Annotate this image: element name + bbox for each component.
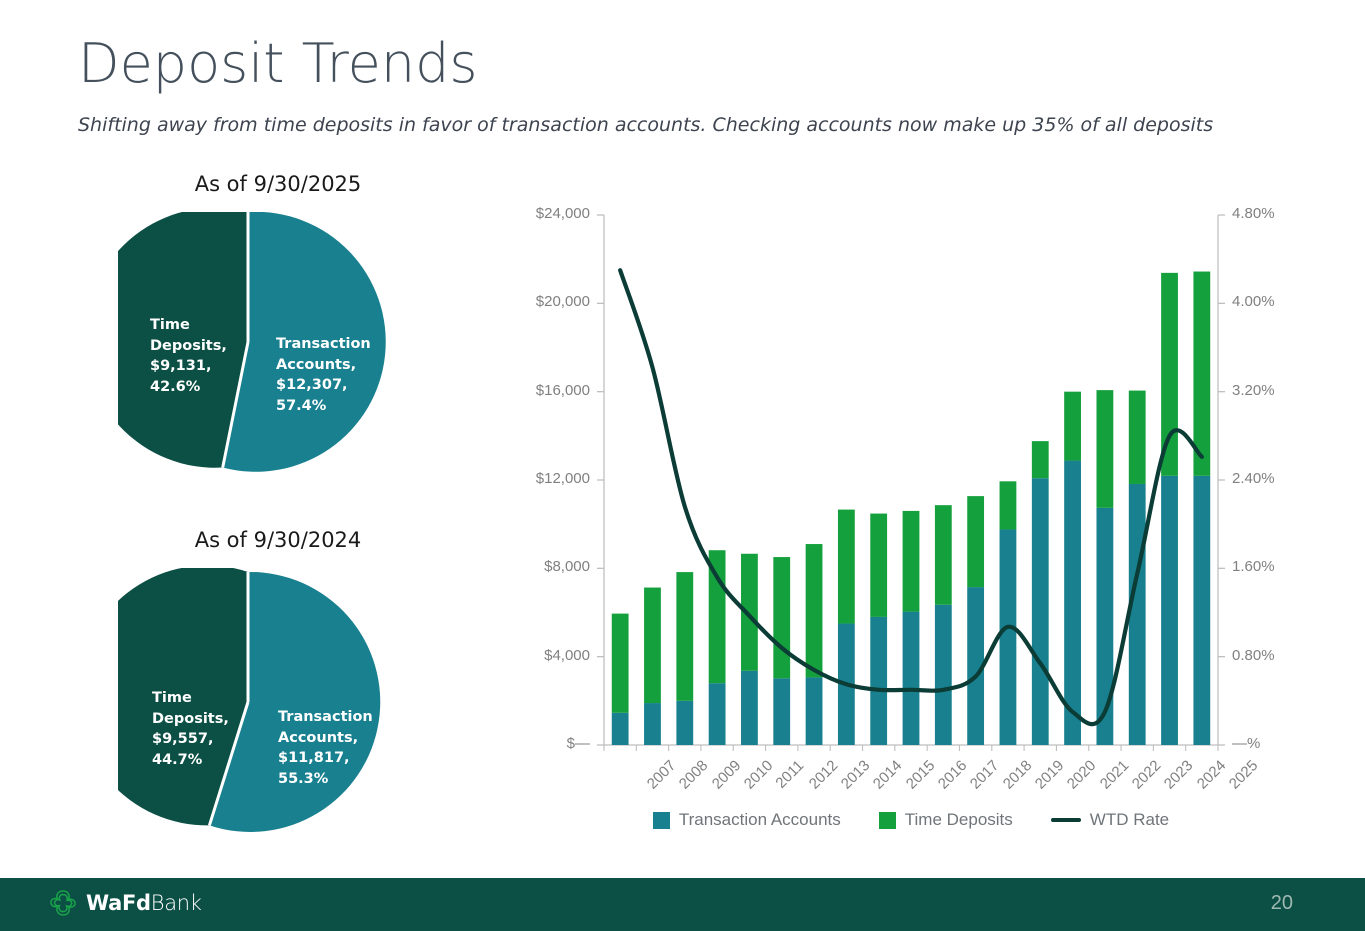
- left-axis-tick-label: $8,000: [500, 558, 590, 575]
- bar-segment-transaction-accounts-2020: [1032, 478, 1049, 745]
- legend-swatch-time-deposits: [879, 812, 896, 829]
- bar-segment-time-deposits-2020: [1032, 441, 1049, 478]
- bar-segment-time-deposits-2014: [838, 510, 855, 624]
- pie-slice-label-time-deposits-2024: Time Deposits, $9,557, 44.7%: [152, 688, 229, 770]
- pie-slice-label-transaction-accounts-2024: Transaction Accounts, $11,817, 55.3%: [278, 707, 373, 789]
- left-axis-tick-label: $4,000: [500, 647, 590, 664]
- legend-label-wtd-rate: WTD Rate: [1090, 810, 1169, 830]
- legend-item-wtd-rate[interactable]: WTD Rate: [1051, 810, 1169, 830]
- bar-segment-transaction-accounts-2024: [1161, 476, 1178, 745]
- right-axis-tick-label: 1.60%: [1232, 558, 1275, 575]
- bar-segment-transaction-accounts-2011: [741, 671, 758, 745]
- left-axis-tick-label: $20,000: [500, 293, 590, 310]
- left-axis-tick-label: $—: [500, 735, 590, 752]
- bar-segment-transaction-accounts-2008: [644, 703, 661, 745]
- left-axis-tick-label: $16,000: [500, 382, 590, 399]
- bar-segment-time-deposits-2013: [806, 544, 823, 677]
- left-axis-tick-label: $24,000: [500, 205, 590, 222]
- pie-graphic-2025: Time Deposits, $9,131, 42.6% Transaction…: [118, 212, 438, 472]
- legend-swatch-transaction-accounts: [653, 812, 670, 829]
- bar-segment-transaction-accounts-2012: [773, 678, 790, 745]
- bar-segment-time-deposits-2018: [967, 496, 984, 587]
- right-axis-tick-label: 4.80%: [1232, 205, 1275, 222]
- bar-segment-time-deposits-2022: [1096, 390, 1113, 508]
- logo-text-bold: WaFd: [86, 891, 151, 915]
- bar-segment-time-deposits-2007: [612, 614, 629, 713]
- pie-slice-label-transaction-accounts-2025: Transaction Accounts, $12,307, 57.4%: [276, 334, 371, 416]
- pie-slice-label-time-deposits-2025: Time Deposits, $9,131, 42.6%: [150, 315, 227, 397]
- bar-segment-transaction-accounts-2015: [870, 617, 887, 745]
- bar-segment-transaction-accounts-2023: [1129, 484, 1146, 745]
- chart-legend: Transaction Accounts Time Deposits WTD R…: [496, 810, 1326, 830]
- pie-caption-2024: As of 9/30/2024: [118, 528, 438, 552]
- bar-segment-time-deposits-2021: [1064, 392, 1081, 461]
- bar-segment-transaction-accounts-2010: [709, 683, 726, 745]
- bar-segment-time-deposits-2023: [1129, 391, 1146, 484]
- pie-graphic-2024: Time Deposits, $9,557, 44.7% Transaction…: [118, 568, 438, 838]
- bar-segment-transaction-accounts-2016: [903, 612, 920, 745]
- right-axis-tick-label: 0.80%: [1232, 647, 1275, 664]
- bar-segment-transaction-accounts-2025: [1193, 476, 1210, 745]
- wafd-bank-logo[interactable]: WaFdBank: [48, 888, 202, 918]
- legend-item-time-deposits[interactable]: Time Deposits: [879, 810, 1013, 830]
- bar-segment-transaction-accounts-2009: [676, 701, 693, 745]
- bar-segment-transaction-accounts-2019: [1000, 529, 1017, 745]
- right-axis-tick-label: —%: [1232, 735, 1260, 752]
- logo-text-light: Bank: [151, 891, 202, 915]
- bar-segment-transaction-accounts-2007: [612, 713, 629, 745]
- bar-segment-transaction-accounts-2013: [806, 677, 823, 745]
- right-axis-tick-label: 3.20%: [1232, 382, 1275, 399]
- bar-segment-time-deposits-2025: [1193, 272, 1210, 476]
- left-axis-tick-label: $12,000: [500, 470, 590, 487]
- bar-segment-time-deposits-2012: [773, 557, 790, 678]
- pie-chart-2024: As of 9/30/2024 Time Deposits, $9,557, 4…: [118, 528, 438, 828]
- deposit-trends-combo-chart: Transaction Accounts Time Deposits WTD R…: [496, 195, 1326, 835]
- legend-line-wtd-rate: [1051, 818, 1081, 822]
- slide-footer: WaFdBank 20: [0, 878, 1365, 931]
- bar-segment-time-deposits-2017: [935, 505, 952, 605]
- wafd-knot-logo-icon: [48, 888, 78, 918]
- legend-label-time-deposits: Time Deposits: [905, 810, 1013, 830]
- page-number: 20: [1271, 892, 1293, 915]
- wafd-bank-wordmark: WaFdBank: [86, 891, 202, 915]
- bar-segment-time-deposits-2015: [870, 514, 887, 617]
- combo-chart-svg: [496, 195, 1326, 795]
- right-axis-tick-label: 2.40%: [1232, 470, 1275, 487]
- bar-segment-transaction-accounts-2017: [935, 605, 952, 745]
- bar-segment-time-deposits-2019: [1000, 481, 1017, 529]
- legend-item-transaction-accounts[interactable]: Transaction Accounts: [653, 810, 841, 830]
- bar-segment-time-deposits-2008: [644, 588, 661, 703]
- bar-segment-time-deposits-2016: [903, 511, 920, 612]
- right-axis-tick-label: 4.00%: [1232, 293, 1275, 310]
- bar-segment-time-deposits-2009: [676, 572, 693, 701]
- pie-chart-2025: As of 9/30/2025 Time Deposits, $9,131, 4…: [118, 172, 438, 472]
- page-title: Deposit Trends: [78, 32, 478, 95]
- legend-label-transaction-accounts: Transaction Accounts: [679, 810, 841, 830]
- pie-caption-2025: As of 9/30/2025: [118, 172, 438, 196]
- page-subtitle: Shifting away from time deposits in favo…: [78, 114, 1213, 136]
